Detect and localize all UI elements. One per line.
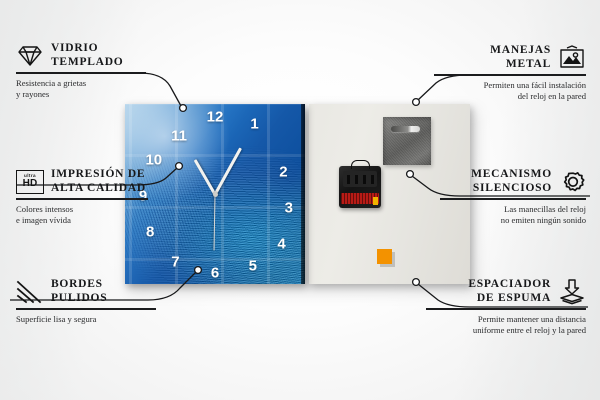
feature-title: BORDES PULIDOS <box>51 278 107 305</box>
feature-vidrio-templado: VIDRIO TEMPLADO Resistencia a grietas y … <box>16 42 146 100</box>
feature-title: VIDRIO TEMPLADO <box>51 42 123 69</box>
connector-dot-impresion <box>176 163 183 170</box>
connector-dot-bordes <box>195 267 202 274</box>
feature-subtitle: Permite mantener una distancia uniforme … <box>426 314 586 336</box>
divider <box>426 308 586 310</box>
connector-dot-espaciador <box>413 279 420 286</box>
feature-subtitle: Las manecillas del reloj no emiten ningú… <box>440 204 586 226</box>
feature-bordes-pulidos: BORDES PULIDOS Superficie lisa y segura <box>16 278 156 325</box>
feature-title: ESPACIADOR DE ESPUMA <box>468 278 551 305</box>
feature-subtitle: Permiten una fácil instalación del reloj… <box>434 80 586 102</box>
gear-icon <box>559 169 586 195</box>
infographic-canvas: 12 1 2 3 4 5 6 7 8 9 10 11 <box>0 0 600 400</box>
connector-dot-manejas <box>413 99 420 106</box>
framed-picture-icon <box>558 45 586 70</box>
divider <box>16 72 146 74</box>
divider <box>16 308 156 310</box>
feature-title: MANEJAS METAL <box>490 44 551 71</box>
connector-dot-vidrio <box>180 105 187 112</box>
divider <box>16 198 148 200</box>
feature-title: IMPRESIÓN DE ALTA CALIDAD <box>51 168 146 195</box>
arrow-down-layers-icon <box>558 279 586 305</box>
feature-subtitle: Colores intensos e imagen vívida <box>16 204 148 226</box>
diamond-icon <box>16 44 44 68</box>
feature-mecanismo-silencioso: MECANISMO SILENCIOSO Las manecillas del … <box>440 168 586 226</box>
feature-subtitle: Resistencia a grietas y rayones <box>16 78 146 100</box>
ultra-hd-icon: ultra HD <box>16 170 44 194</box>
feature-impresion-alta-calidad: ultra HD IMPRESIÓN DE ALTA CALIDAD Color… <box>16 168 148 226</box>
feature-title: MECANISMO SILENCIOSO <box>471 168 552 195</box>
feature-espaciador-espuma: ESPACIADOR DE ESPUMA Permite mantener un… <box>426 278 586 336</box>
diagonal-lines-icon <box>16 280 44 304</box>
divider <box>434 74 586 76</box>
feature-manejas-metal: MANEJAS METAL Permiten una fácil instala… <box>434 44 586 102</box>
divider <box>440 198 586 200</box>
ultra-hd-icon-main: HD <box>23 179 38 189</box>
connector-dot-mecanismo <box>407 171 414 178</box>
feature-subtitle: Superficie lisa y segura <box>16 314 156 325</box>
